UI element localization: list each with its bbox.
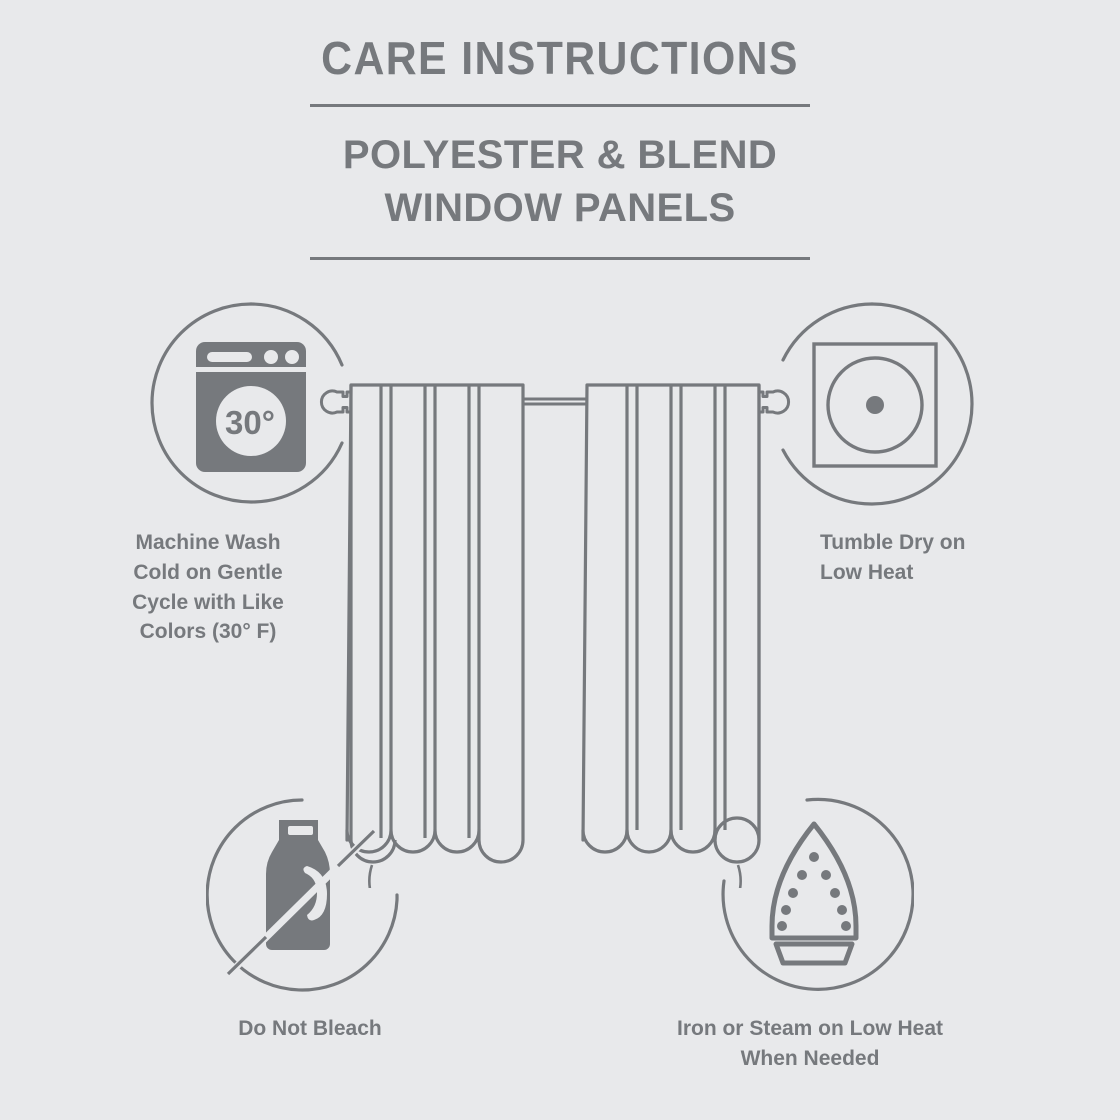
caption-tumble-dry: Tumble Dry on Low Heat: [820, 528, 1120, 588]
tumble-dry-dot: [866, 396, 884, 414]
page-title: CARE INSTRUCTIONS: [39, 34, 1081, 82]
iron-icon: [772, 824, 856, 963]
bleach-bottle-cap-slot: [288, 826, 313, 835]
washer-temperature-label: 30°: [225, 404, 275, 441]
slash-tail-lower: [228, 937, 266, 974]
care-badge-do-not-bleach: [206, 796, 406, 996]
caption-do-not-bleach: Do Not Bleach: [160, 1014, 460, 1044]
subtitle-line-2: WINDOW PANELS: [0, 182, 1120, 235]
washer-control-slot: [207, 352, 252, 362]
subtitle-divider: [310, 257, 810, 260]
page-subtitle: POLYESTER & BLEND WINDOW PANELS: [0, 129, 1120, 235]
care-badge-iron: [714, 796, 914, 996]
washer-knob-1: [264, 350, 278, 364]
subtitle-line-1: POLYESTER & BLEND: [0, 129, 1120, 182]
washer-knob-2: [285, 350, 299, 364]
caption-iron: Iron or Steam on Low Heat When Needed: [610, 1014, 1010, 1074]
header: CARE INSTRUCTIONS POLYESTER & BLEND WIND…: [0, 34, 1120, 260]
care-badge-machine-wash: 30°: [146, 298, 356, 510]
care-badge-tumble-dry: [766, 298, 978, 510]
badge-ring-top: [783, 304, 872, 360]
iron-base: [776, 944, 852, 963]
care-instructions-infographic: CARE INSTRUCTIONS POLYESTER & BLEND WIND…: [0, 0, 1120, 1120]
iron-soleplate: [772, 824, 856, 938]
title-divider: [310, 104, 810, 107]
slash-tail-upper: [338, 831, 374, 866]
caption-machine-wash: Machine Wash Cold on Gentle Cycle with L…: [58, 528, 358, 647]
